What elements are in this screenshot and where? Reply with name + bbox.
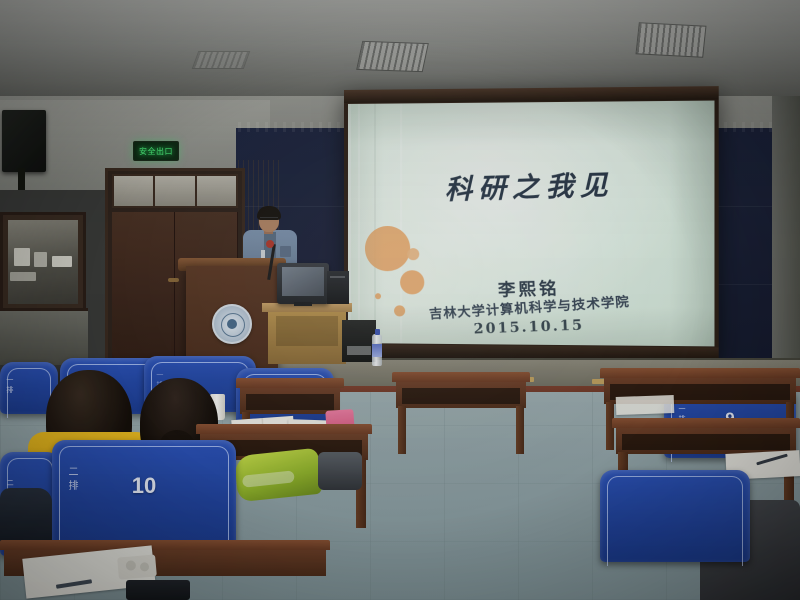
projection-screen: 科研之我见 李熙铭 吉林大学计算机科学与技术学院 2015.10.15 (344, 86, 719, 362)
desk-top (236, 378, 344, 388)
equipment-box (342, 320, 376, 362)
computer-tower (327, 271, 349, 304)
chair-piping (607, 476, 743, 566)
desk-top (392, 372, 530, 382)
cabinet-item (14, 248, 30, 266)
transom-window (112, 174, 238, 208)
chair-row-label: 一排 (6, 376, 13, 396)
right-wall (772, 96, 800, 386)
chair-number: 10 (52, 473, 236, 499)
chair-piping (59, 446, 229, 554)
chair[interactable] (600, 470, 750, 562)
desk-shelf (402, 388, 520, 404)
desk (392, 372, 530, 458)
desk-shelf (246, 394, 334, 410)
computer-table (268, 312, 346, 364)
chair-row2-seat10[interactable]: 二排 10 (52, 440, 236, 550)
university-seal-icon (212, 304, 252, 344)
microphone-icon (266, 240, 274, 248)
cabinet-lower-panel (0, 308, 88, 365)
exit-sign: 安全出口 (133, 141, 179, 161)
lecture-hall-photo: 安全出口 科研之我见 李熙铭 吉林大学计算机科学与技术学院 2015.10.15 (0, 0, 800, 600)
wall-speaker-icon (2, 110, 46, 172)
dark-bag[interactable] (318, 452, 362, 490)
monitor-screen (282, 267, 324, 296)
desk-top (600, 368, 800, 378)
desk-top (196, 424, 372, 434)
loose-paper[interactable] (616, 395, 675, 415)
phone[interactable] (126, 580, 190, 600)
cabinet-item (10, 272, 36, 281)
exit-sign-label: 安全出口 (139, 146, 173, 157)
desk-leg (398, 406, 406, 454)
slide-vignette (348, 101, 714, 347)
desk-leg (516, 406, 524, 454)
tissue-pack[interactable] (117, 554, 157, 579)
desk-shelf (622, 434, 790, 450)
green-backpack[interactable] (234, 448, 322, 503)
door-handle[interactable] (168, 278, 179, 282)
desk-top (0, 540, 330, 550)
cabinet-item (34, 252, 47, 267)
monitor-base (294, 302, 312, 306)
water-bottle[interactable] (372, 334, 382, 366)
speaker-mount (18, 168, 25, 190)
desktop-monitor (277, 263, 329, 304)
presenter-glasses-icon (260, 217, 278, 222)
presentation-slide: 科研之我见 李熙铭 吉林大学计算机科学与技术学院 2015.10.15 (348, 101, 714, 347)
desk-top (612, 418, 800, 428)
chair-piping (7, 368, 51, 418)
presenter-shirt-pocket (280, 246, 291, 257)
cabinet-item (52, 256, 72, 267)
